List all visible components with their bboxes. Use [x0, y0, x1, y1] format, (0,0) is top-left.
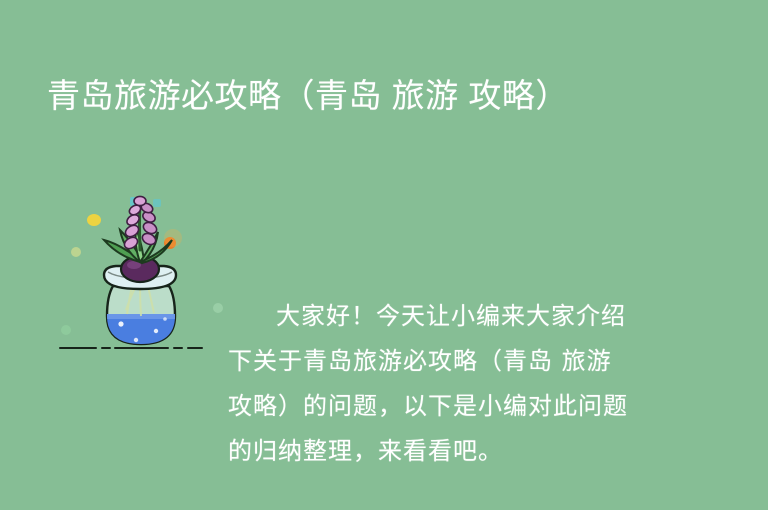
body-paragraph-1: 大家好！今天让小编来大家介绍下关于青岛旅游必攻略（青岛 旅游 攻略）的问题，以下… [228, 294, 640, 474]
hyacinth-vase-illustration [52, 190, 232, 370]
article-page: 青岛旅游必攻略（青岛 旅游 攻略） [0, 0, 768, 510]
article-body: 大家好！今天让小编来大家介绍下关于青岛旅游必攻略（青岛 旅游 攻略）的问题，以下… [228, 204, 640, 510]
glass-vase [102, 286, 184, 356]
hyacinth-vase-icon [52, 190, 232, 370]
leaves [104, 228, 172, 263]
page-title: 青岛旅游必攻略（青岛 旅游 攻略） [47, 70, 707, 122]
